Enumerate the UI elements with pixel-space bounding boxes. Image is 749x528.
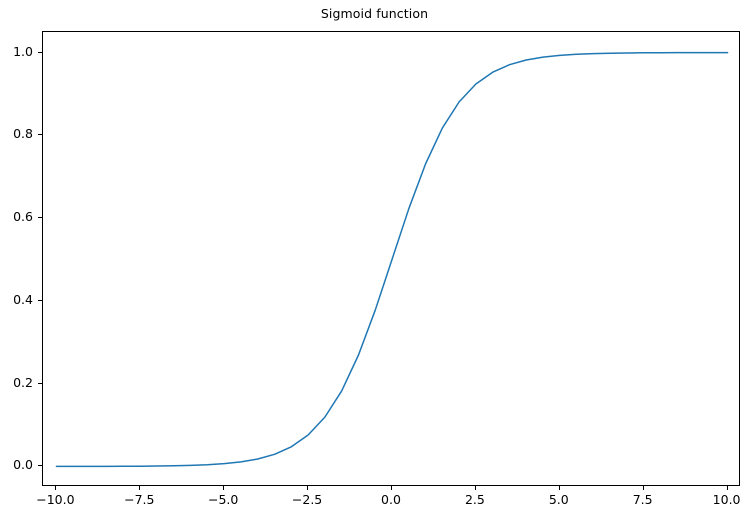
y-tick-mark: [38, 52, 42, 53]
y-tick-label: 0.2: [0, 375, 33, 390]
x-tick-label: 2.5: [435, 492, 515, 507]
x-tick-mark: [223, 486, 224, 490]
x-tick-label: 5.0: [519, 492, 599, 507]
x-tick-mark: [727, 486, 728, 490]
y-tick-mark: [38, 134, 42, 135]
x-tick-label: −5.0: [183, 492, 263, 507]
chart-title: Sigmoid function: [0, 6, 749, 22]
x-tick-mark: [391, 486, 392, 490]
y-tick-label: 0.6: [0, 209, 33, 224]
plot-axes: [42, 31, 740, 486]
x-tick-label: −2.5: [267, 492, 347, 507]
x-tick-label: −10.0: [15, 492, 95, 507]
y-tick-mark: [38, 465, 42, 466]
x-tick-label: −7.5: [99, 492, 179, 507]
x-tick-label: 10.0: [687, 492, 749, 507]
y-tick-label: 0.4: [0, 292, 33, 307]
x-tick-mark: [139, 486, 140, 490]
sigmoid-curve-line: [56, 53, 727, 467]
y-tick-mark: [38, 300, 42, 301]
y-tick-label: 0.8: [0, 126, 33, 141]
y-tick-mark: [38, 217, 42, 218]
x-tick-label: 7.5: [603, 492, 683, 507]
matplotlib-figure: Sigmoid function −10.0−7.5−5.0−2.50.02.5…: [0, 0, 749, 528]
x-tick-label: 0.0: [351, 492, 431, 507]
y-tick-label: 0.0: [0, 457, 33, 472]
x-tick-mark: [55, 486, 56, 490]
y-tick-label: 1.0: [0, 44, 33, 59]
x-tick-mark: [559, 486, 560, 490]
x-tick-mark: [307, 486, 308, 490]
x-tick-mark: [475, 486, 476, 490]
x-tick-mark: [643, 486, 644, 490]
y-tick-mark: [38, 383, 42, 384]
sigmoid-curve-svg: [43, 32, 741, 487]
